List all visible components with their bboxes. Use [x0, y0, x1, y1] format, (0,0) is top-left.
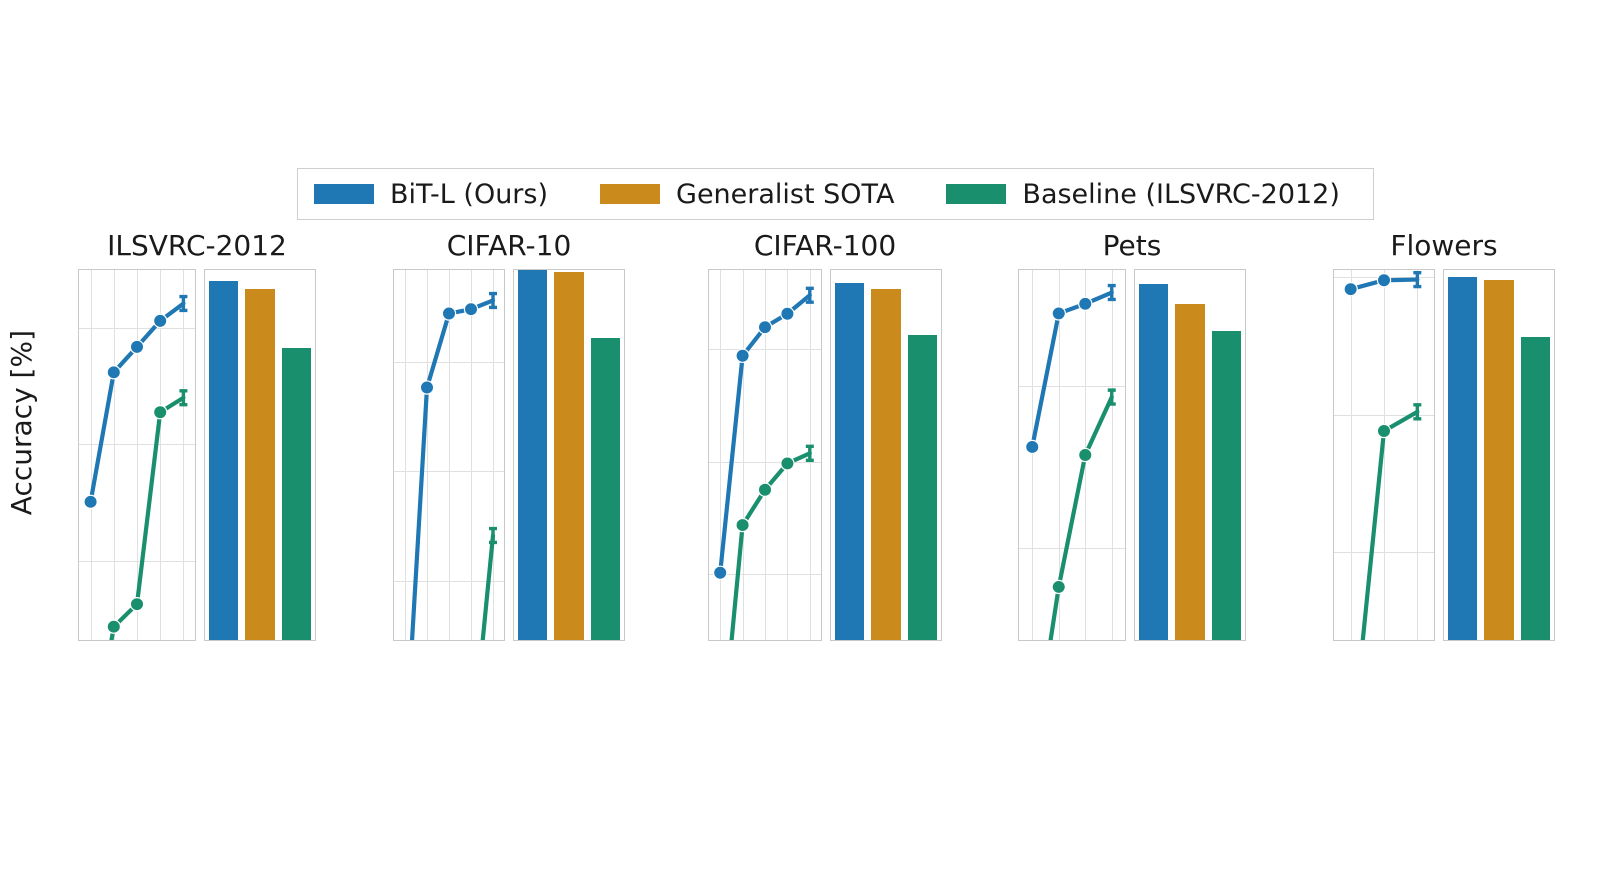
- data-point: [154, 314, 167, 327]
- x-tick-mark: [809, 640, 811, 641]
- data-point: [714, 566, 727, 579]
- bar: [554, 272, 583, 640]
- bar: [871, 289, 900, 640]
- legend-label-generalist-sota: Generalist SOTA: [676, 181, 894, 208]
- data-point: [84, 495, 97, 508]
- data-point: [1052, 580, 1065, 593]
- data-point: [758, 483, 771, 496]
- panel-flowers: Flowers60801001510fullfullfull: [1333, 232, 1555, 682]
- data-point: [154, 406, 167, 419]
- bar: [1212, 331, 1241, 640]
- bar: [1484, 280, 1513, 640]
- legend-entry-baseline: Baseline (ILSVRC-2012): [946, 169, 1339, 219]
- x-tick-mark: [1498, 640, 1500, 641]
- data-point: [1079, 297, 1092, 310]
- bar-axes: fullfullfull: [830, 269, 942, 641]
- x-tick-mark: [182, 640, 184, 641]
- panel-title: Pets: [1018, 232, 1246, 260]
- series-layer: [79, 270, 195, 640]
- legend-label-bit-l: BiT-L (Ours): [390, 181, 548, 208]
- panel-ilsvrc-2012: ILSVRC-2012406080151025100fullfullfull: [78, 232, 316, 682]
- data-point: [1026, 440, 1039, 453]
- bar: [209, 281, 238, 640]
- line-axes: 406080151025100: [708, 269, 822, 641]
- line-axes: 859095151025100: [393, 269, 505, 641]
- data-point: [130, 598, 143, 611]
- data-point: [420, 381, 433, 394]
- x-tick-mark: [1383, 640, 1385, 641]
- line-axes: 60801001510: [1333, 269, 1435, 641]
- x-tick-mark: [742, 640, 744, 641]
- x-tick-mark: [404, 640, 406, 641]
- data-point: [781, 457, 794, 470]
- bar-axes: fullfullfull: [1443, 269, 1555, 641]
- bar: [835, 283, 864, 640]
- data-point: [107, 366, 120, 379]
- panel-title: CIFAR-100: [708, 232, 942, 260]
- legend: BiT-L (Ours) Generalist SOTA Baseline (I…: [297, 168, 1374, 220]
- axes-row: 60801001510fullfullfull: [1333, 269, 1555, 641]
- error-bar: [489, 529, 497, 543]
- bar: [1139, 284, 1168, 640]
- series-line: [91, 304, 184, 502]
- y-axis-label: Accuracy [%]: [8, 330, 36, 515]
- panel-cifar-100: CIFAR-100406080151025100fullfullfull: [708, 232, 942, 682]
- x-tick-mark: [786, 640, 788, 641]
- x-tick-mark: [1535, 640, 1537, 641]
- x-tick-mark: [568, 640, 570, 641]
- line-axes: 406080151025100: [78, 269, 196, 641]
- legend-swatch-icon-bit-l: [314, 184, 374, 204]
- data-point: [1377, 274, 1390, 287]
- data-point: [1052, 307, 1065, 320]
- series-layer: [1019, 270, 1125, 640]
- line-axes: 8090151025: [1018, 269, 1126, 641]
- x-tick-mark: [1350, 640, 1352, 641]
- x-tick-mark: [448, 640, 450, 641]
- bar: [591, 338, 620, 640]
- data-point: [1079, 448, 1092, 461]
- axes-row: 8090151025fullfullfull: [1018, 269, 1246, 641]
- series-line: [720, 295, 810, 573]
- panel-title: ILSVRC-2012: [78, 232, 316, 260]
- bar: [245, 289, 274, 640]
- series-layer: [709, 270, 821, 640]
- x-tick-mark: [1189, 640, 1191, 641]
- data-point: [1344, 283, 1357, 296]
- x-tick-mark: [426, 640, 428, 641]
- bar-axes: fullfullfull: [513, 269, 625, 641]
- data-point: [130, 340, 143, 353]
- x-tick-mark: [764, 640, 766, 641]
- x-tick-mark: [90, 640, 92, 641]
- legend-label-baseline: Baseline (ILSVRC-2012): [1022, 181, 1339, 208]
- series-line: [1032, 397, 1112, 641]
- x-tick-mark: [1058, 640, 1060, 641]
- bar: [1521, 337, 1550, 640]
- data-point: [107, 620, 120, 633]
- x-tick-mark: [136, 640, 138, 641]
- x-tick-mark: [1084, 640, 1086, 641]
- bar: [1175, 304, 1204, 640]
- x-tick-mark: [1226, 640, 1228, 641]
- x-tick-mark: [922, 640, 924, 641]
- figure-root: BiT-L (Ours) Generalist SOTA Baseline (I…: [0, 0, 1600, 891]
- x-tick-mark: [1111, 640, 1113, 641]
- legend-swatch-icon-generalist-sota: [600, 184, 660, 204]
- legend-entry-generalist-sota: Generalist SOTA: [600, 169, 894, 219]
- bar: [908, 335, 937, 640]
- x-tick-mark: [492, 640, 494, 641]
- data-point: [781, 307, 794, 320]
- axes-row: 406080151025100fullfullfull: [708, 269, 942, 641]
- axes-row: 406080151025100fullfullfull: [78, 269, 316, 641]
- series-line: [1351, 412, 1418, 641]
- bar: [282, 348, 311, 640]
- panel-title: CIFAR-10: [393, 232, 625, 260]
- legend-entry-bit-l: BiT-L (Ours): [314, 169, 548, 219]
- x-tick-mark: [159, 640, 161, 641]
- legend-swatch-icon-baseline: [946, 184, 1006, 204]
- x-tick-mark: [605, 640, 607, 641]
- series-line: [720, 453, 810, 641]
- x-tick-mark: [885, 640, 887, 641]
- bar: [1448, 277, 1477, 640]
- series-layer: [1334, 270, 1434, 640]
- bar: [518, 269, 547, 640]
- x-tick-mark: [259, 640, 261, 641]
- series-layer: [394, 270, 504, 640]
- bar-axes: fullfullfull: [204, 269, 316, 641]
- x-tick-mark: [1416, 640, 1418, 641]
- series-line: [405, 300, 493, 641]
- panel-pets: Pets8090151025fullfullfull: [1018, 232, 1246, 682]
- x-tick-mark: [848, 640, 850, 641]
- x-tick-mark: [113, 640, 115, 641]
- x-tick-mark: [296, 640, 298, 641]
- data-point: [1377, 424, 1390, 437]
- x-tick-mark: [531, 640, 533, 641]
- data-point: [442, 307, 455, 320]
- x-tick-mark: [719, 640, 721, 641]
- panel-cifar-10: CIFAR-10859095151025100fullfullfull: [393, 232, 625, 682]
- x-tick-mark: [222, 640, 224, 641]
- panel-title: Flowers: [1333, 232, 1555, 260]
- x-tick-mark: [1461, 640, 1463, 641]
- series-line: [471, 536, 493, 641]
- x-tick-mark: [470, 640, 472, 641]
- data-point: [736, 349, 749, 362]
- data-point: [736, 519, 749, 532]
- axes-row: 859095151025100fullfullfull: [393, 269, 625, 641]
- data-point: [464, 303, 477, 316]
- bar-axes: fullfullfull: [1134, 269, 1246, 641]
- data-point: [758, 321, 771, 334]
- x-tick-mark: [1031, 640, 1033, 641]
- x-tick-mark: [1152, 640, 1154, 641]
